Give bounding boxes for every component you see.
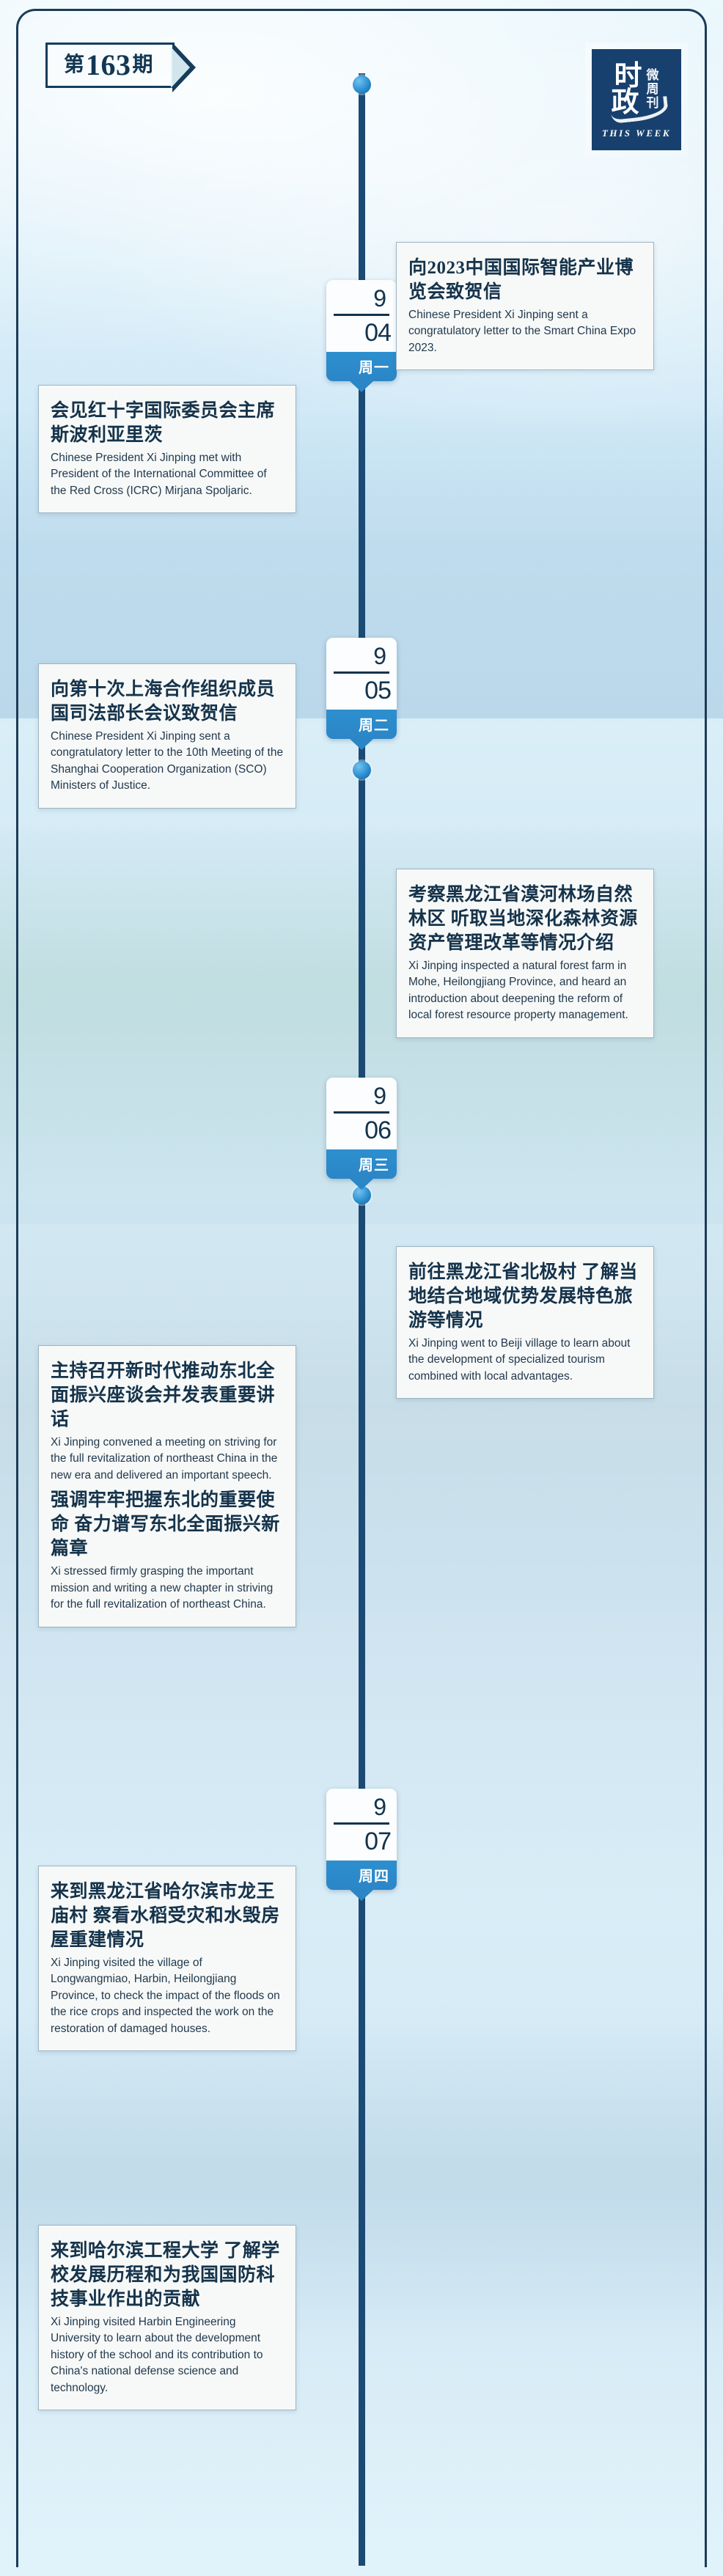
logo-plate: 时 政 微 周 刊 THIS WEEK: [592, 49, 681, 150]
date-chip-0907[interactable]: 9 07 周四: [326, 1789, 397, 1890]
publication-logo: 时 政 微 周 刊 THIS WEEK: [585, 43, 688, 157]
event-body-en: Chinese President Xi Jinping sent a cong…: [51, 729, 284, 795]
event-card-longwangmiao-village[interactable]: 来到黑龙江省哈尔滨市龙王庙村 察看水稻受灾和水毁房屋重建情况 Xi Jinpin…: [38, 1866, 296, 2051]
date-day: 06: [326, 1114, 397, 1149]
event-title-cn: 前往黑龙江省北极村 了解当地结合地域优势发展特色旅游等情况: [408, 1260, 642, 1333]
event-body-en: Chinese President Xi Jinping met with Pr…: [51, 450, 284, 499]
timeline-node-0905: [353, 761, 371, 779]
event-title-cn: 来到黑龙江省哈尔滨市龙王庙村 察看水稻受灾和水毁房屋重建情况: [51, 1880, 284, 1952]
event-card-beiji-village[interactable]: 前往黑龙江省北极村 了解当地结合地域优势发展特色旅游等情况 Xi Jinping…: [396, 1246, 654, 1399]
issue-number: 163: [84, 51, 133, 80]
event-card-northeast-revitalization[interactable]: 主持召开新时代推动东北全面振兴座谈会并发表重要讲话 Xi Jinping con…: [38, 1345, 296, 1627]
date-month: 9: [326, 1789, 397, 1822]
date-weekday: 周二: [326, 710, 397, 739]
event-body-en-2: Xi stressed firmly grasping the importan…: [51, 1564, 284, 1613]
date-weekday: 周一: [326, 352, 397, 381]
event-body-en: Xi Jinping went to Beiji village to lear…: [408, 1336, 642, 1385]
issue-prefix-label: 第: [64, 55, 84, 76]
infographic-page: 第 163 期 时 政 微 周 刊 THIS WEEK: [0, 0, 723, 2576]
date-weekday: 周三: [326, 1149, 397, 1179]
event-body-en: Xi Jinping convened a meeting on strivin…: [51, 1435, 284, 1484]
date-day: 04: [326, 316, 397, 352]
issue-badge: 第 163 期: [45, 43, 175, 88]
date-month: 9: [326, 638, 397, 671]
event-card-harbin-engineering-university[interactable]: 来到哈尔滨工程大学 了解学校发展历程和为我国国防科技事业作出的贡献 Xi Jin…: [38, 2225, 296, 2410]
event-card-smart-china-expo[interactable]: 向2023中国国际智能产业博览会致贺信 Chinese President Xi…: [396, 242, 654, 370]
issue-suffix-label: 期: [133, 55, 153, 76]
logo-char-zhou: 周: [647, 82, 659, 96]
event-body-en: Xi Jinping visited Harbin Engineering Un…: [51, 2314, 284, 2396]
event-body-en: Chinese President Xi Jinping sent a cong…: [408, 307, 642, 356]
date-weekday: 周四: [326, 1861, 397, 1890]
event-title-cn: 会见红十字国际委员会主席斯波利亚里茨: [51, 399, 284, 447]
date-month: 9: [326, 280, 397, 314]
date-chip-0904[interactable]: 9 04 周一: [326, 280, 397, 381]
logo-english-tagline: THIS WEEK: [602, 128, 671, 139]
event-body-en: Xi Jinping inspected a natural forest fa…: [408, 958, 642, 1024]
event-title-cn: 来到哈尔滨工程大学 了解学校发展历程和为我国国防科技事业作出的贡献: [51, 2239, 284, 2311]
date-chip-0906[interactable]: 9 06 周三: [326, 1078, 397, 1179]
timeline-axis: [359, 73, 365, 2566]
logo-char-shi: 时: [614, 63, 641, 89]
event-title-cn: 向第十次上海合作组织成员国司法部长会议致贺信: [51, 677, 284, 726]
event-card-mohe-forest-farm[interactable]: 考察黑龙江省漠河林场自然林区 听取当地深化森林资源资产管理改革等情况介绍 Xi …: [396, 869, 654, 1038]
timeline-node-top: [353, 76, 371, 94]
event-card-icrc-meeting[interactable]: 会见红十字国际委员会主席斯波利亚里茨 Chinese President Xi …: [38, 385, 296, 513]
event-body-en: Xi Jinping visited the village of Longwa…: [51, 1955, 284, 2037]
date-day: 07: [326, 1825, 397, 1861]
date-day: 05: [326, 674, 397, 710]
date-month: 9: [326, 1078, 397, 1111]
event-title-cn: 考察黑龙江省漠河林场自然林区 听取当地深化森林资源资产管理改革等情况介绍: [408, 883, 642, 955]
date-chip-0905[interactable]: 9 05 周二: [326, 638, 397, 739]
event-title-cn: 向2023中国国际智能产业博览会致贺信: [408, 256, 642, 304]
event-title-cn-2: 强调牢牢把握东北的重要使命 奋力谱写东北全面振兴新篇章: [51, 1488, 284, 1561]
event-title-cn: 主持召开新时代推动东北全面振兴座谈会并发表重要讲话: [51, 1359, 284, 1432]
logo-char-wei: 微: [647, 68, 659, 82]
event-card-sco-ministers-justice[interactable]: 向第十次上海合作组织成员国司法部长会议致贺信 Chinese President…: [38, 663, 296, 809]
